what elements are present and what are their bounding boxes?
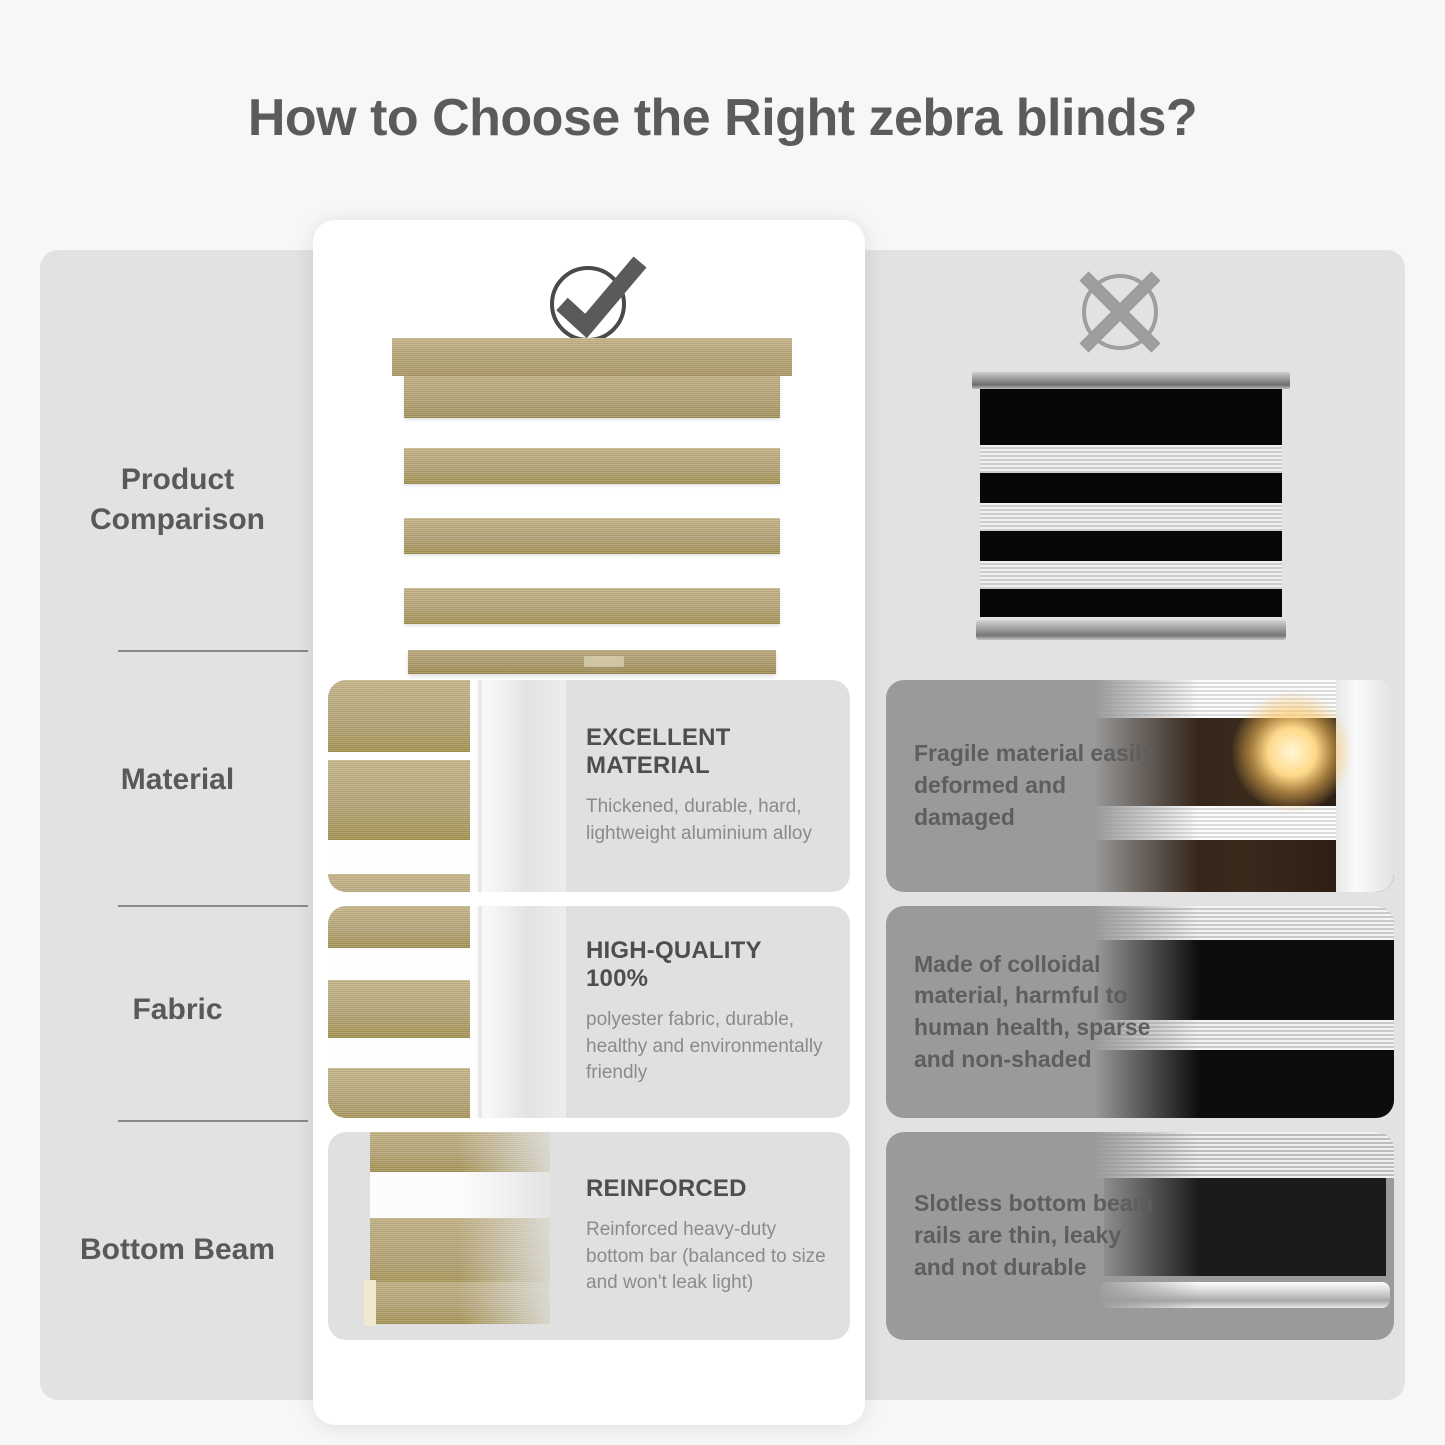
- black-sheer-band: [980, 445, 1282, 473]
- black-headrail: [972, 372, 1290, 389]
- fabric-bad-text: Made of colloidal material, harmful to h…: [914, 949, 1164, 1076]
- hero-blind-beige: [392, 338, 792, 663]
- photo-beige-fabric-bands: [328, 906, 566, 1118]
- beige-pull-tab: [584, 656, 624, 667]
- bottom-beam-good-heading: REINFORCED: [586, 1175, 830, 1203]
- material-bad-text: Fragile material easily deformed and dam…: [914, 738, 1164, 833]
- fabric-good-body: polyester fabric, durable, healthy and e…: [586, 1007, 830, 1088]
- cross-circle-icon: [1068, 262, 1173, 362]
- row-divider-3: [118, 1120, 308, 1122]
- row-label-bottom-beam: Bottom Beam: [40, 1170, 315, 1330]
- beige-slat: [404, 518, 780, 554]
- card-material-bad: Fragile material easily deformed and dam…: [886, 680, 1394, 892]
- row-label-material: Material: [40, 720, 315, 840]
- black-sheer-band: [980, 561, 1282, 589]
- beige-slat: [404, 448, 780, 484]
- material-good-heading: EXCELLENT MATERIAL: [586, 724, 830, 780]
- photo-beige-blind-window: [328, 680, 566, 892]
- black-bottom-rail: [976, 620, 1286, 640]
- card-fabric-good: HIGH-QUALITY 100% polyester fabric, dura…: [328, 906, 850, 1118]
- row-divider-2: [118, 905, 308, 907]
- bottom-beam-good-body: Reinforced heavy-duty bottom bar (balanc…: [586, 1217, 830, 1298]
- material-good-body: Thickened, durable, hard, lightweight al…: [586, 794, 830, 848]
- beige-slat: [404, 588, 780, 624]
- check-circle-icon: [540, 252, 650, 347]
- beige-headrail: [392, 338, 792, 376]
- card-bottom-beam-good: REINFORCED Reinforced heavy-duty bottom …: [328, 1132, 850, 1340]
- card-material-good: EXCELLENT MATERIAL Thickened, durable, h…: [328, 680, 850, 892]
- row-label-product-comparison: Product Comparison: [40, 410, 315, 590]
- hero-blind-black: [972, 372, 1290, 652]
- row-label-fabric: Fabric: [40, 950, 315, 1070]
- row-label-column: Product Comparison Material Fabric Botto…: [40, 250, 315, 1400]
- photo-reinforced-bottom-bar: [328, 1132, 566, 1340]
- row-divider-1: [118, 650, 308, 652]
- beige-head-slat: [404, 376, 780, 418]
- card-fabric-bad: Made of colloidal material, harmful to h…: [886, 906, 1394, 1118]
- black-sheer-band: [980, 503, 1282, 531]
- page-title: How to Choose the Right zebra blinds?: [0, 88, 1445, 148]
- bottom-beam-bad-text: Slotless bottom beam rails are thin, lea…: [914, 1188, 1164, 1283]
- fabric-good-heading: HIGH-QUALITY 100%: [586, 937, 830, 993]
- card-bottom-beam-bad: Slotless bottom beam rails are thin, lea…: [886, 1132, 1394, 1340]
- black-fabric-body: [980, 389, 1282, 617]
